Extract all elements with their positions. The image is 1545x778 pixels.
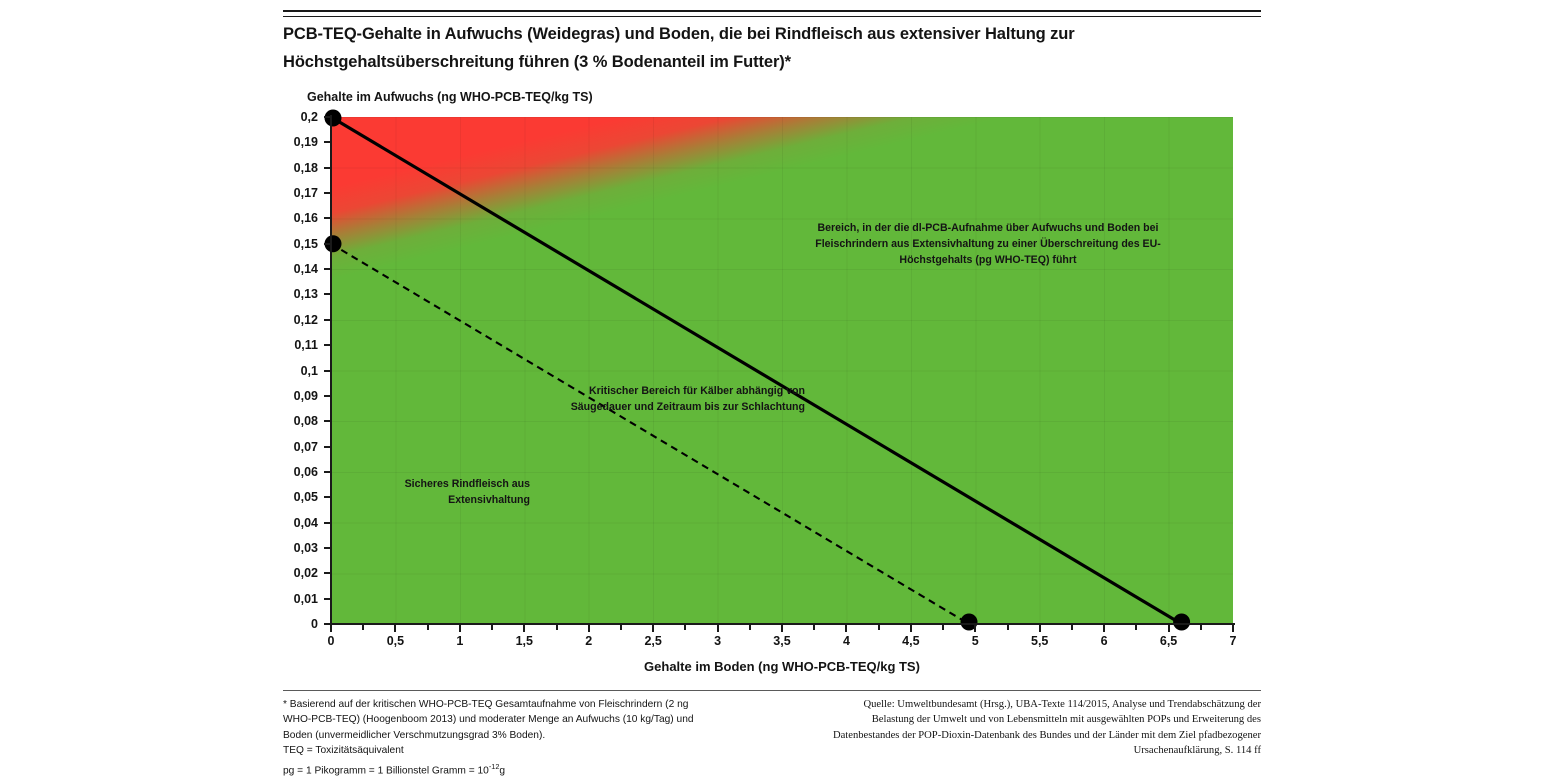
y-tick-mark <box>324 344 331 346</box>
x-tick-mark-minor <box>1135 625 1137 630</box>
y-tick-mark <box>324 268 331 270</box>
y-tick-mark <box>324 243 331 245</box>
footnote-line-4: TEQ = Toxizitätsäquivalent <box>283 743 728 758</box>
y-tick-label: 0,13 <box>0 287 318 301</box>
y-axis-title: Gehalte im Aufwuchs (ng WHO-PCB-TEQ/kg T… <box>307 90 593 104</box>
source-line-4: Ursachenaufklärung, S. 114 ff <box>770 743 1261 758</box>
footer-rule <box>283 690 1261 691</box>
x-tick-mark-minor <box>556 625 558 630</box>
footnote-line-3: Boden (unvermeidlicher Verschmutzungsgra… <box>283 728 728 743</box>
x-tick-label: 6,5 <box>1160 634 1177 648</box>
x-tick-mark <box>1103 625 1105 632</box>
y-tick-label: 0,16 <box>0 211 318 225</box>
x-tick-mark <box>588 625 590 632</box>
footnote-line-2: WHO-PCB-TEQ) (Hoogenboom 2013) und moder… <box>283 712 728 727</box>
source-line-1: Quelle: Umweltbundesamt (Hrsg.), UBA-Tex… <box>770 697 1261 712</box>
marker-solid-end <box>1173 614 1190 631</box>
x-tick-mark <box>845 625 847 632</box>
y-tick-label: 0,01 <box>0 592 318 606</box>
y-tick-label: 0,06 <box>0 465 318 479</box>
y-tick-label: 0,03 <box>0 541 318 555</box>
y-tick-mark <box>324 192 331 194</box>
series-line-dashed <box>331 244 969 624</box>
x-tick-mark-minor <box>813 625 815 630</box>
x-tick-label: 5,5 <box>1031 634 1048 648</box>
x-tick-mark <box>1039 625 1041 632</box>
y-tick-label: 0,07 <box>0 440 318 454</box>
x-tick-label: 5 <box>972 634 979 648</box>
y-tick-mark <box>324 496 331 498</box>
series-line-solid <box>331 117 1182 624</box>
y-tick-label: 0,05 <box>0 490 318 504</box>
y-tick-label: 0,11 <box>0 338 318 352</box>
y-tick-label: 0,12 <box>0 313 318 327</box>
y-tick-label: 0,15 <box>0 237 318 251</box>
y-tick-mark <box>324 370 331 372</box>
x-tick-mark <box>652 625 654 632</box>
data-lines <box>331 117 1233 624</box>
x-tick-label: 6 <box>1101 634 1108 648</box>
source-line-2: Belastung der Umwelt und von Lebensmitte… <box>770 712 1261 727</box>
x-tick-mark <box>974 625 976 632</box>
source-block: Quelle: Umweltbundesamt (Hrsg.), UBA-Tex… <box>770 697 1261 759</box>
y-tick-mark <box>324 471 331 473</box>
x-tick-label: 3,5 <box>773 634 790 648</box>
y-tick-label: 0,18 <box>0 161 318 175</box>
page-title: PCB-TEQ-Gehalte in Aufwuchs (Weidegras) … <box>283 20 1263 76</box>
y-tick-mark <box>324 217 331 219</box>
x-tick-label: 2 <box>585 634 592 648</box>
y-tick-mark <box>324 547 331 549</box>
y-tick-label: 0,09 <box>0 389 318 403</box>
x-tick-label: 0,5 <box>387 634 404 648</box>
x-tick-mark <box>781 625 783 632</box>
footnote-line-5-unit: g <box>499 765 505 776</box>
x-tick-mark-minor <box>427 625 429 630</box>
x-tick-mark-minor <box>362 625 364 630</box>
plot-area <box>331 117 1233 624</box>
x-tick-label: 4 <box>843 634 850 648</box>
annotation-safe-zone: Sicheres Rindfleisch aus Extensivhaltung <box>345 476 530 508</box>
x-tick-mark <box>330 625 332 632</box>
y-tick-mark <box>324 116 331 118</box>
y-tick-label: 0,17 <box>0 186 318 200</box>
y-tick-mark <box>324 522 331 524</box>
x-tick-mark-minor <box>942 625 944 630</box>
x-tick-mark <box>523 625 525 632</box>
y-tick-label: 0 <box>0 617 318 631</box>
x-tick-label: 1 <box>456 634 463 648</box>
x-tick-label: 4,5 <box>902 634 919 648</box>
footnote-line-1: * Basierend auf der kritischen WHO-PCB-T… <box>283 697 728 712</box>
x-axis-title: Gehalte im Boden (ng WHO-PCB-TEQ/kg TS) <box>331 659 1233 674</box>
x-tick-mark-minor <box>491 625 493 630</box>
y-tick-mark <box>324 420 331 422</box>
y-tick-mark <box>324 395 331 397</box>
source-line-3: Datenbestandes der POP-Dioxin-Datenbank … <box>770 728 1261 743</box>
y-tick-label: 0,19 <box>0 135 318 149</box>
x-tick-mark-minor <box>1200 625 1202 630</box>
top-rule <box>283 10 1261 17</box>
y-tick-label: 0,1 <box>0 364 318 378</box>
y-tick-label: 0,2 <box>0 110 318 124</box>
x-tick-label: 1,5 <box>516 634 533 648</box>
annotation-red-zone: Bereich, in der die dl-PCB-Aufnahme über… <box>796 220 1180 268</box>
x-tick-mark-minor <box>1071 625 1073 630</box>
x-tick-mark <box>910 625 912 632</box>
x-tick-mark-minor <box>620 625 622 630</box>
x-tick-mark <box>1168 625 1170 632</box>
x-tick-mark-minor <box>684 625 686 630</box>
x-tick-label: 0 <box>328 634 335 648</box>
footnote-line-5: pg = 1 Pikogramm = 1 Billionstel Gramm =… <box>283 759 728 778</box>
y-tick-label: 0,02 <box>0 566 318 580</box>
y-tick-mark <box>324 141 331 143</box>
x-tick-mark <box>1232 625 1234 632</box>
x-tick-label: 2,5 <box>644 634 661 648</box>
annotation-critical-zone: Kritischer Bereich für Kälber abhängig v… <box>560 383 805 415</box>
chart-sheet: PCB-TEQ-Gehalte in Aufwuchs (Weidegras) … <box>0 0 1545 775</box>
footnote-line-5-text: pg = 1 Pikogramm = 1 Billionstel Gramm =… <box>283 765 489 776</box>
y-tick-mark <box>324 293 331 295</box>
footnote-block: * Basierend auf der kritischen WHO-PCB-T… <box>283 697 728 778</box>
x-tick-mark-minor <box>878 625 880 630</box>
y-tick-mark <box>324 167 331 169</box>
x-tick-mark <box>459 625 461 632</box>
x-tick-mark-minor <box>1007 625 1009 630</box>
marker-solid-start <box>325 110 342 127</box>
y-tick-label: 0,14 <box>0 262 318 276</box>
x-tick-mark <box>717 625 719 632</box>
x-tick-label: 7 <box>1230 634 1237 648</box>
x-tick-label: 3 <box>714 634 721 648</box>
y-tick-mark <box>324 572 331 574</box>
footnote-exponent: -12 <box>489 762 500 771</box>
y-tick-label: 0,04 <box>0 516 318 530</box>
y-tick-mark <box>324 598 331 600</box>
x-tick-mark-minor <box>749 625 751 630</box>
y-tick-mark <box>324 319 331 321</box>
y-tick-mark <box>324 446 331 448</box>
y-tick-label: 0,08 <box>0 414 318 428</box>
x-tick-mark <box>394 625 396 632</box>
